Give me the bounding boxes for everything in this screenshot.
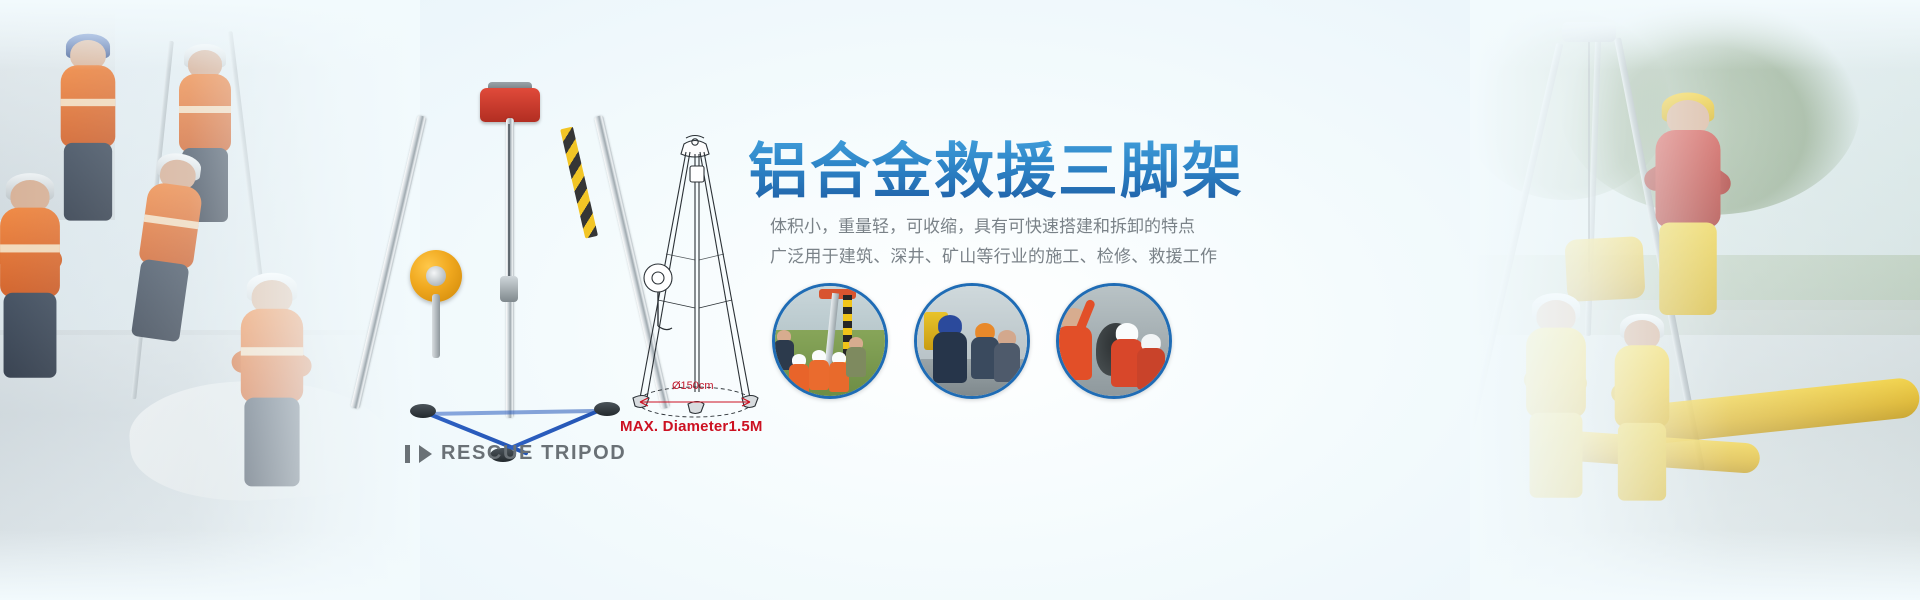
photo-content — [917, 286, 1027, 396]
reflective-stripe — [0, 244, 60, 252]
circle-photo-gallery — [772, 283, 1172, 399]
torso — [846, 347, 866, 377]
right-scene-rope — [1588, 42, 1590, 272]
tripod-pulley — [500, 276, 518, 302]
page-title: 铝合金救援三脚架 — [748, 140, 1244, 205]
right-photo-collage — [1470, 0, 1920, 600]
subtitle-line-2: 广泛用于建筑、深井、矿山等行业的施工、检修、救援工作 — [770, 242, 1217, 272]
subtitle-line-1: 体积小，重量轻，可收缩，具有可快速搭建和拆卸的特点 — [770, 212, 1217, 242]
confined-space-rescue-photo[interactable] — [1056, 283, 1172, 399]
tripod-head — [480, 88, 540, 122]
label-bar — [405, 445, 410, 463]
torso — [1656, 130, 1721, 228]
right-scene-tripod-head — [1562, 22, 1616, 42]
field-rescue-tripod-photo[interactable] — [772, 283, 888, 399]
torso — [1056, 326, 1092, 380]
subtitle-block: 体积小，重量轻，可收缩，具有可快速搭建和拆卸的特点 广泛用于建筑、深井、矿山等行… — [770, 212, 1217, 272]
workers-inspection-photo[interactable] — [914, 283, 1030, 399]
torso — [1526, 328, 1586, 418]
tripod-foot — [410, 404, 436, 418]
torso — [1137, 348, 1165, 390]
tripod-cable — [508, 124, 510, 284]
torso — [809, 360, 829, 390]
right-scene-equipment — [1564, 236, 1645, 302]
banner-stage: RESCUE TRIPOD — [0, 0, 1920, 600]
photo-content — [775, 286, 885, 396]
reflective-stripe — [179, 106, 231, 113]
torso — [994, 343, 1020, 382]
reflective-stripe — [241, 347, 303, 355]
legs — [1530, 413, 1583, 498]
reflective-stripe — [61, 99, 116, 106]
photo-content — [1059, 286, 1169, 396]
legs — [64, 143, 112, 221]
torso — [1615, 345, 1670, 427]
rescue-tripod-text: RESCUE TRIPOD — [441, 442, 626, 465]
legs — [4, 293, 57, 378]
tripod-winch-arm — [432, 294, 440, 358]
torso — [933, 332, 967, 383]
max-diameter-annotation: MAX. Diameter1.5M — [620, 418, 763, 435]
rescue-tripod-label: RESCUE TRIPOD — [405, 442, 626, 465]
play-triangle-icon — [419, 445, 432, 463]
legs — [1659, 223, 1717, 316]
legs — [1618, 423, 1666, 501]
hazard-stripe-tape — [560, 127, 598, 239]
left-photo-collage — [0, 0, 420, 600]
torso — [179, 74, 231, 152]
legs — [244, 398, 299, 487]
diameter-annotation: Ø150cm — [672, 380, 714, 392]
torso — [789, 364, 809, 394]
tripod-winch-hub — [426, 266, 446, 286]
